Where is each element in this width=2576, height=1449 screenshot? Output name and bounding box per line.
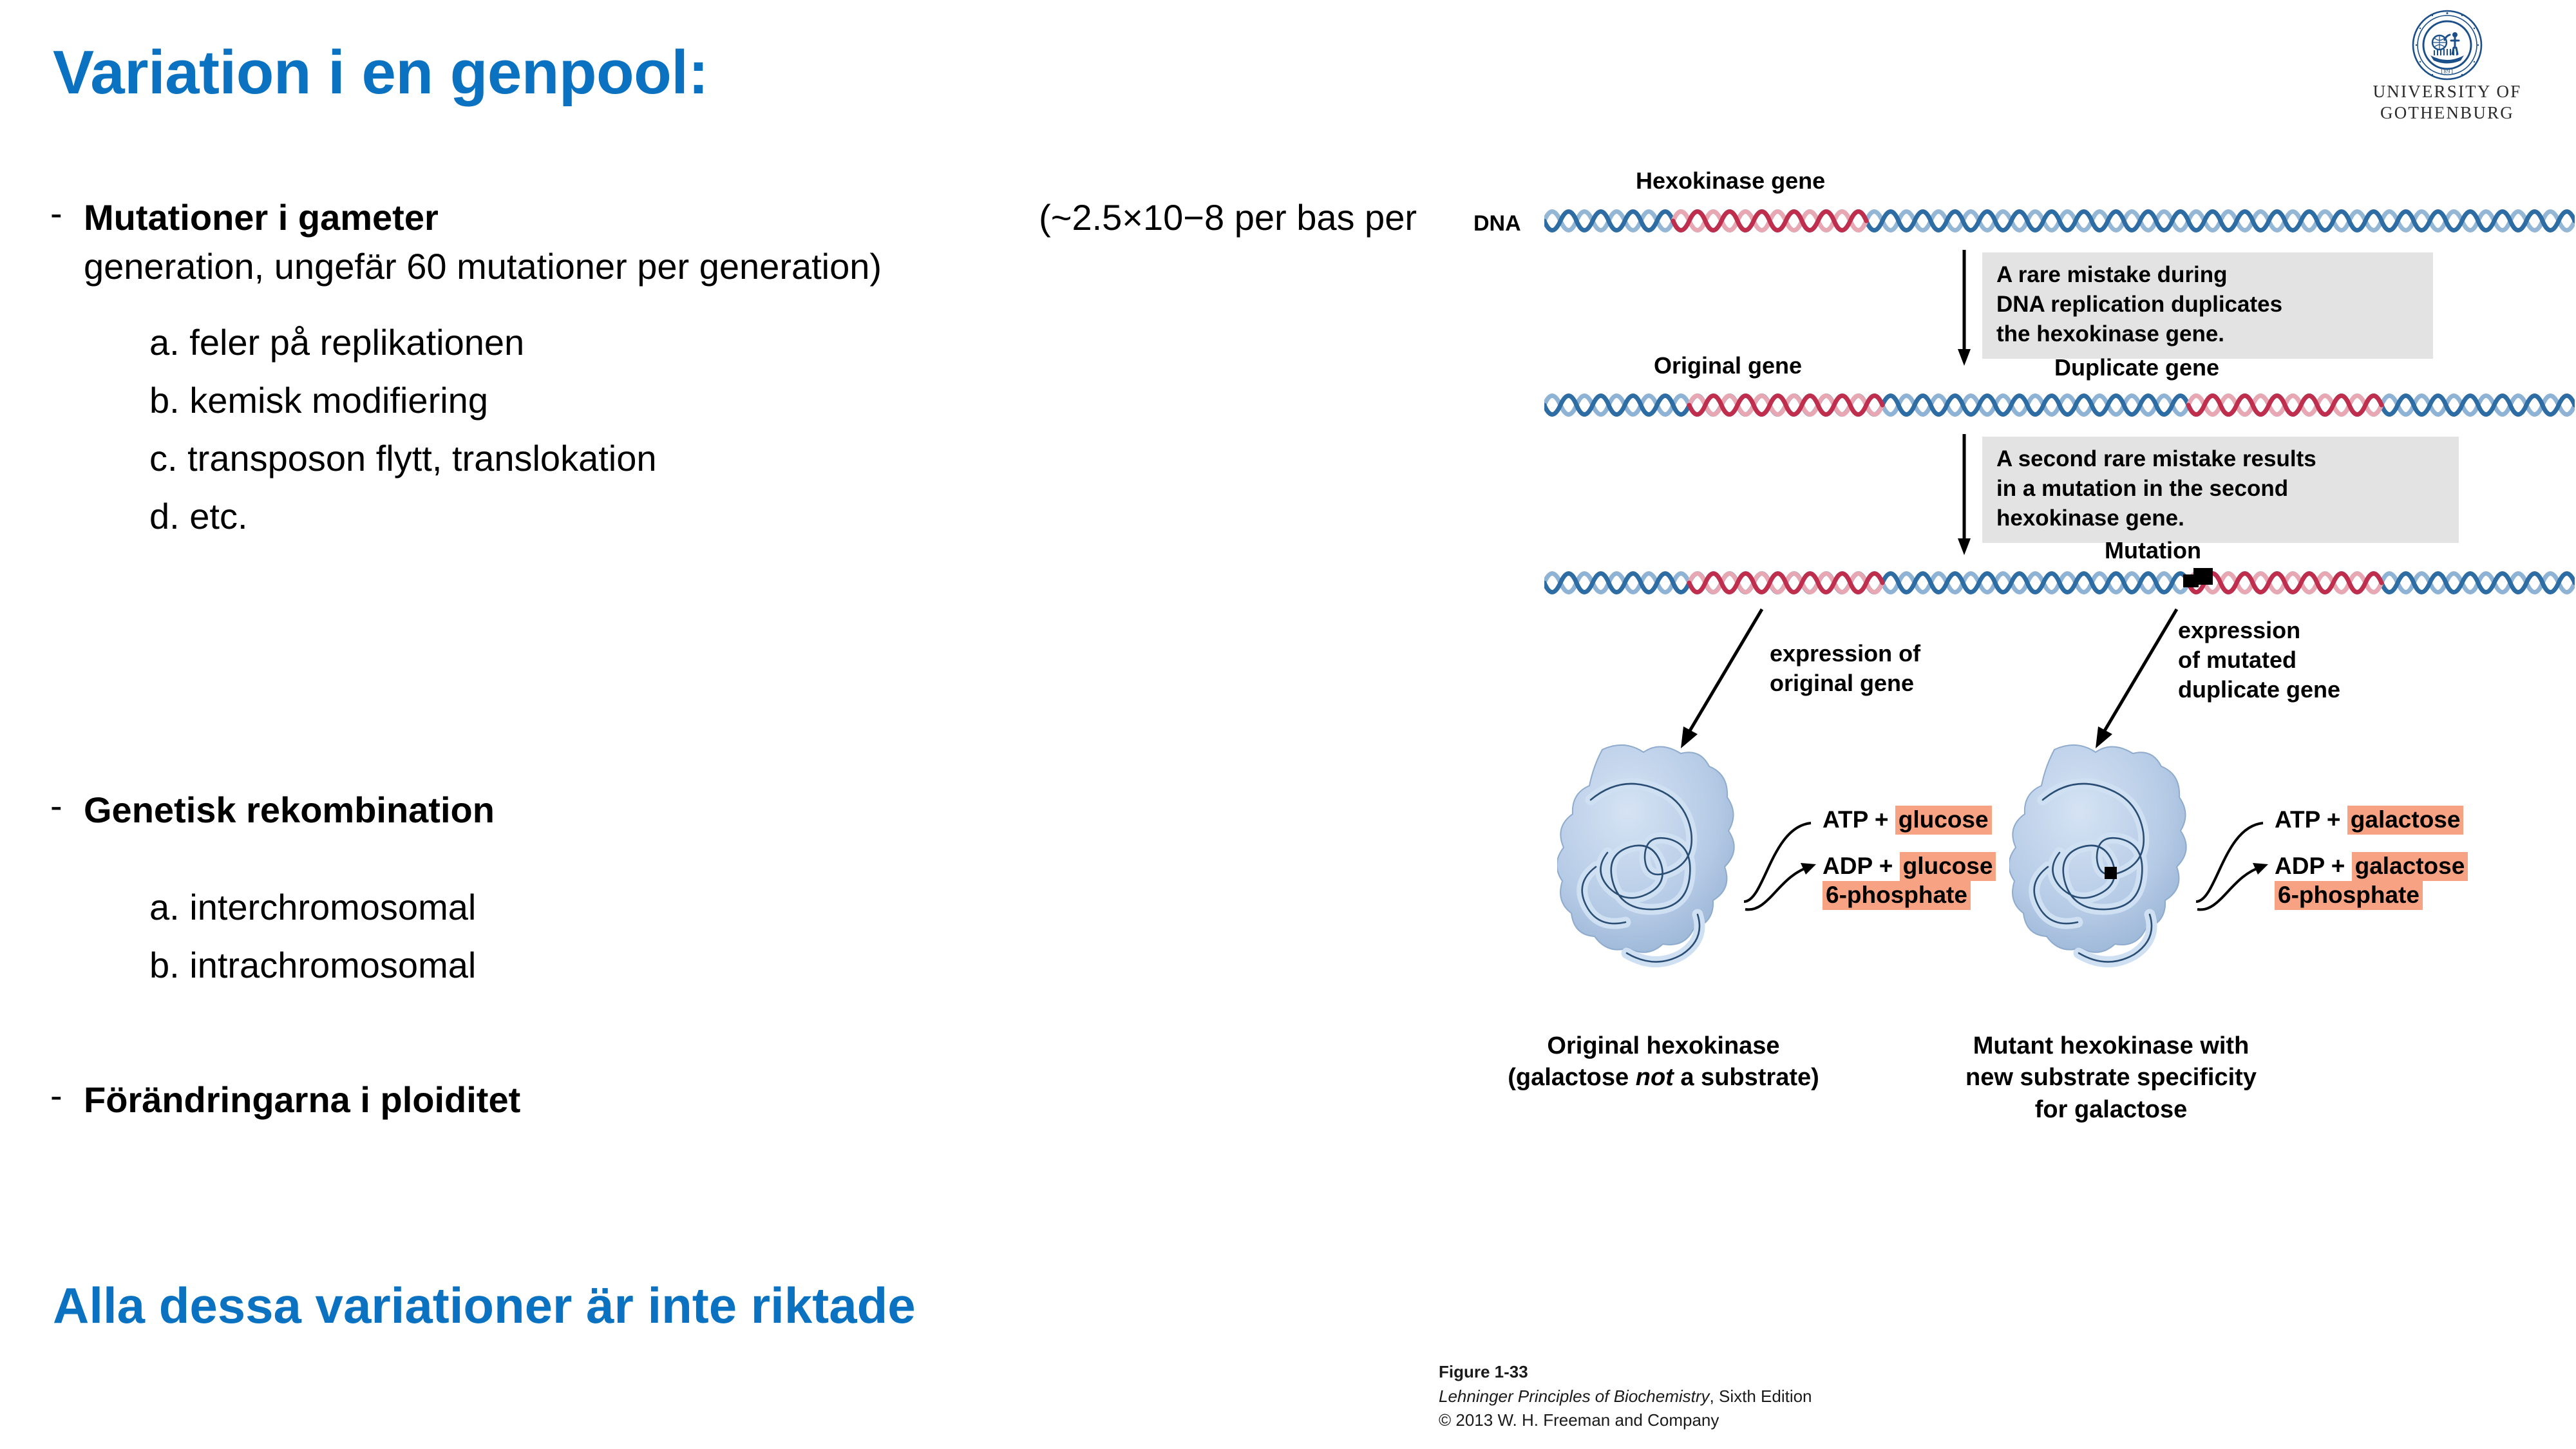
credit-copyright: © 2013 W. H. Freeman and Company (1439, 1408, 1812, 1433)
bullet-dash: - (50, 786, 84, 826)
mutation-marker-b (2193, 568, 2213, 585)
caption-right-line-3: for galactose (1931, 1094, 2291, 1126)
dna-strand-3 (1544, 563, 2575, 603)
university-logo: 1891 UNIVERSITY OF GOTHENBURG (2344, 9, 2550, 124)
bullet-item-mutationer: - Mutationer i gameter (~2.5×10−8 per ba… (50, 193, 1422, 290)
bullet-item-ploiditet: - Förändringarna i ploiditet (50, 1075, 952, 1124)
expression-right-line-2: of mutated (2178, 645, 2297, 675)
caption-left-italic: not (1636, 1064, 1674, 1091)
reaction-left-bottom: ADP + glucose 6-phosphate (1823, 851, 1996, 909)
arrow-down-1 (1951, 250, 1977, 367)
callout-1-line-3: the hexokinase gene. (1996, 319, 2421, 349)
reaction-right-top: ATP + galactose (2275, 805, 2463, 834)
logo-line-2: GOTHENBURG (2344, 102, 2550, 124)
reaction-arrows-right (2191, 805, 2275, 914)
original-gene-label: Original gene (1654, 351, 1802, 381)
bullet-strong-text: Förändringarna i ploiditet (84, 1075, 520, 1124)
caption-original-hexokinase: Original hexokinase (galactose not a sub… (1493, 1030, 1834, 1094)
reaction-right-bottom-highlight-2: 6-phosphate (2275, 881, 2423, 910)
callout-2-line-3: hexokinase gene. (1996, 504, 2447, 533)
credit-edition: , Sixth Edition (1710, 1387, 1812, 1406)
enzyme-original-hexokinase (1557, 741, 1770, 1011)
reaction-right-top-highlight: galactose (2347, 806, 2464, 835)
figure-hexokinase-duplication: Hexokinase gene DNA A rare mistake durin… (1436, 161, 2576, 1449)
sub-item-b-kemisk: b. kemisk modifiering (149, 379, 488, 422)
logo-line-1: UNIVERSITY OF (2344, 81, 2550, 102)
reaction-right-bottom-highlight-1: galactose (2352, 852, 2468, 881)
reaction-left-top-prefix: ATP + (1823, 806, 1895, 833)
callout-duplication: A rare mistake during DNA replication du… (1982, 252, 2433, 359)
slide-text-column: Variation i en genpool: - Mutationer i g… (0, 0, 1436, 1449)
dna-label: DNA (1473, 210, 1521, 238)
credit-figure-number: Figure 1-33 (1439, 1360, 1812, 1385)
reaction-left-top-highlight: glucose (1895, 806, 1992, 835)
sub-item-a-replikationen: a. feler på replikationen (149, 321, 524, 364)
mutation-label: Mutation (2105, 536, 2201, 565)
caption-left-post: a substrate) (1674, 1064, 1819, 1091)
callout-mutation: A second rare mistake results in a mutat… (1982, 437, 2459, 543)
expression-left-line-2: original gene (1770, 668, 1914, 698)
dna-strand-1 (1544, 201, 2575, 241)
reaction-right-top-prefix: ATP + (2275, 806, 2347, 833)
callout-2-line-1: A second rare mistake results (1996, 444, 2447, 474)
page-title: Variation i en genpool: (53, 37, 708, 108)
sub-item-b-intrachromosomal: b. intrachromosomal (149, 943, 476, 987)
caption-left-line-1: Original hexokinase (1493, 1030, 1834, 1062)
bullet-strong-text: Mutationer i gameter (84, 193, 439, 242)
arrow-down-2 (1951, 434, 1977, 556)
reaction-right-bottom: ADP + galactose 6-phosphate (2275, 851, 2468, 909)
mutation-site-marker (2105, 867, 2117, 879)
closing-statement: Alla dessa variationer är inte riktade (53, 1276, 916, 1335)
seal-year-text: 1891 (2440, 68, 2454, 75)
reaction-left-top: ATP + glucose (1823, 805, 1992, 834)
bullet-body: Mutationer i gameter (~2.5×10−8 per bas … (84, 193, 1417, 290)
callout-2-line-2: in a mutation in the second (1996, 474, 2447, 504)
caption-right-line-2: new substrate specificity (1931, 1062, 2291, 1094)
duplicate-gene-label: Duplicate gene (2054, 353, 2219, 383)
sub-item-c-transposon: c. transposon flytt, translokation (149, 437, 657, 480)
enzyme-mutant-hexokinase (2009, 741, 2222, 1011)
hexokinase-gene-label: Hexokinase gene (1636, 166, 1825, 196)
reaction-arrows-left (1739, 805, 1823, 914)
bullet-rate-text: (~2.5×10−8 per bas per (1039, 193, 1417, 242)
reaction-right-bottom-prefix: ADP + (2275, 853, 2352, 879)
bullet-dash: - (50, 193, 84, 233)
reaction-left-bottom-highlight-2: 6-phosphate (1823, 881, 1971, 910)
expression-right-line-3: duplicate gene (2178, 675, 2340, 705)
bullet-dash: - (50, 1075, 84, 1115)
expression-right-line-1: expression (2178, 616, 2300, 645)
figure-credit: Figure 1-33 Lehninger Principles of Bioc… (1439, 1360, 1812, 1433)
bullet-item-rekombination: - Genetisk rekombination (50, 786, 952, 835)
sub-item-a-interchromosomal: a. interchromosomal (149, 885, 476, 929)
caption-mutant-hexokinase: Mutant hexokinase with new substrate spe… (1931, 1030, 2291, 1126)
caption-left-line-2: (galactose not a substrate) (1493, 1062, 1834, 1094)
bullet-line-1: Mutationer i gameter (~2.5×10−8 per bas … (84, 193, 1417, 242)
credit-source-line: Lehninger Principles of Biochemistry, Si… (1439, 1385, 1812, 1409)
caption-left-pre: (galactose (1508, 1064, 1636, 1091)
reaction-left-bottom-highlight-1: glucose (1900, 852, 1996, 881)
dna-strand-2 (1544, 385, 2575, 425)
reaction-left-bottom-prefix: ADP + (1823, 853, 1900, 879)
callout-1-line-1: A rare mistake during (1996, 260, 2421, 290)
sub-item-d-etc: d. etc. (149, 495, 248, 538)
expression-left-line-1: expression of (1770, 639, 1920, 668)
credit-book-title: Lehninger Principles of Biochemistry (1439, 1387, 1710, 1406)
bullet-line-2: generation, ungefär 60 mutationer per ge… (84, 242, 1417, 291)
university-seal-icon: 1891 (2411, 9, 2483, 81)
callout-1-line-2: DNA replication duplicates (1996, 290, 2421, 319)
bullet-strong-text: Genetisk rekombination (84, 786, 495, 835)
caption-right-line-1: Mutant hexokinase with (1931, 1030, 2291, 1062)
